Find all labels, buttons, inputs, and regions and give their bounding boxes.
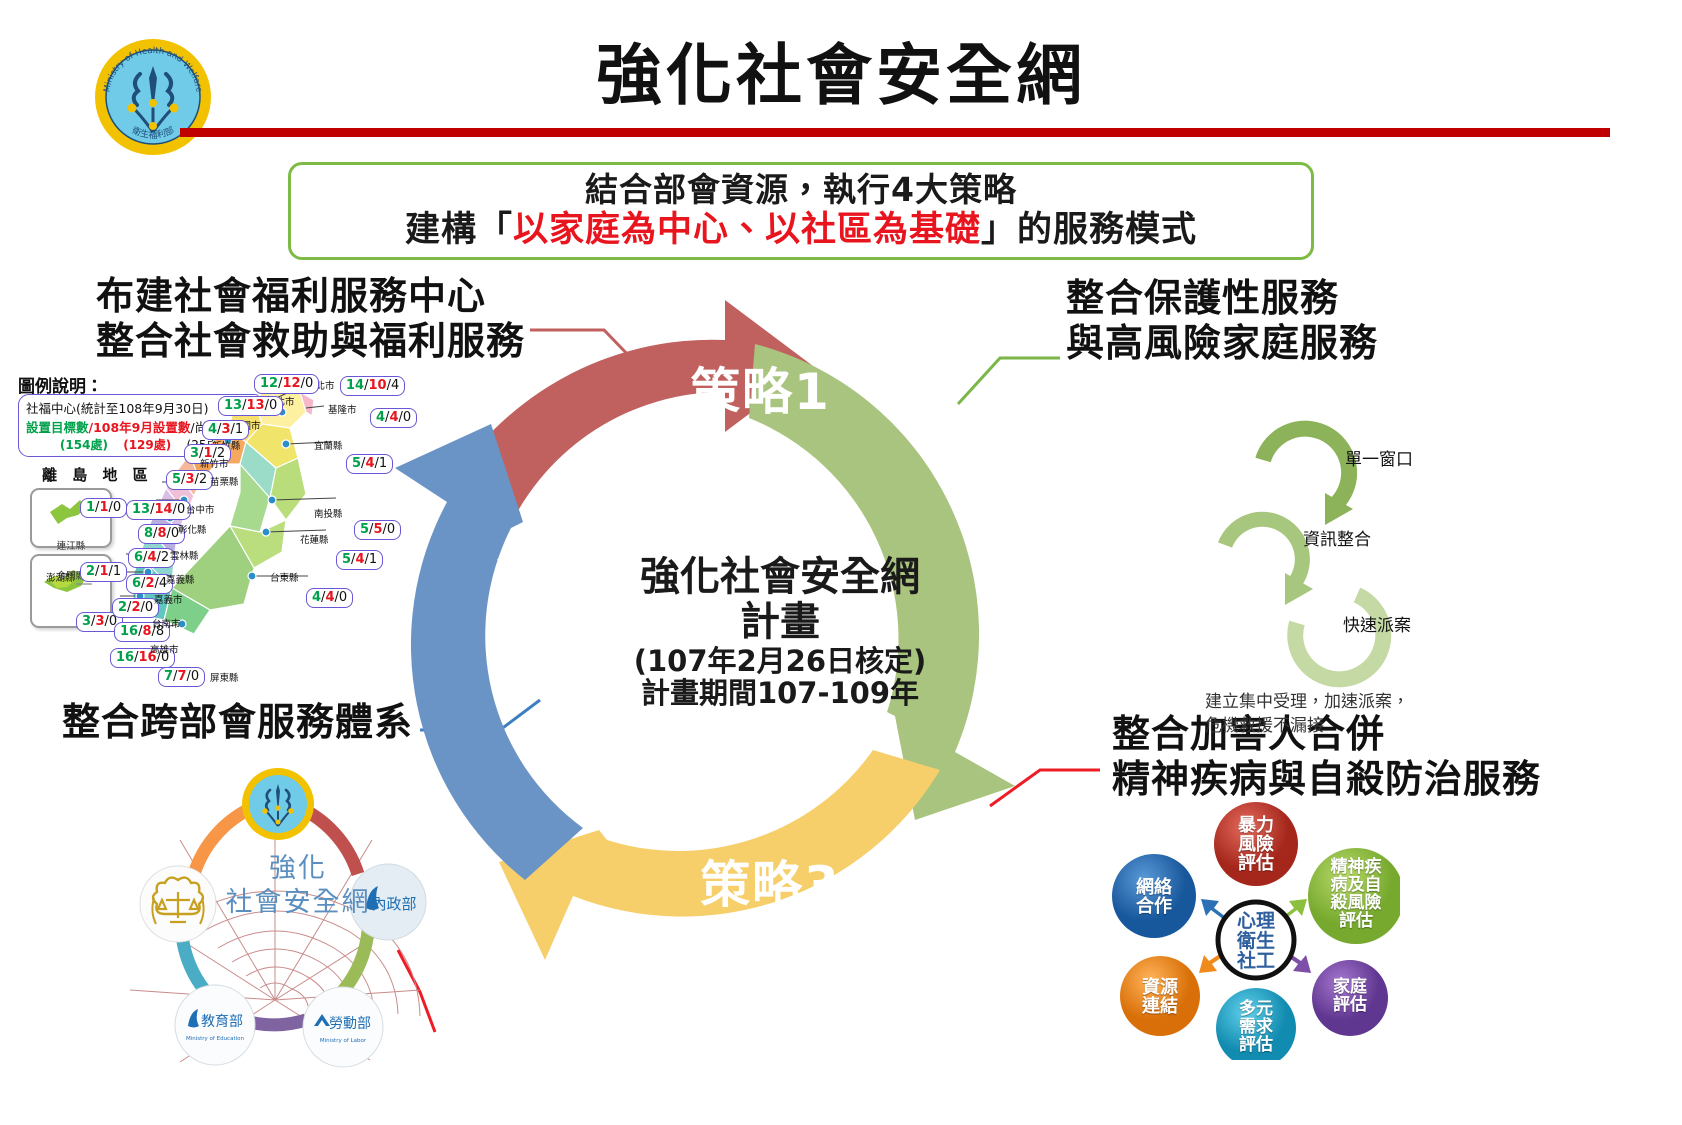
bubble-mental-suicide-risk-text: 精神疾病及自殺風險評估	[1314, 858, 1398, 930]
pill-kinmen: 2/1/1	[80, 562, 127, 582]
county-name-keelung: 基隆市	[328, 402, 357, 416]
svg-text:Ministry of Labor: Ministry of Labor	[320, 1038, 367, 1044]
county-name-pingtung: 屏東縣	[210, 670, 239, 684]
county-name-nantou: 南投縣	[314, 506, 343, 520]
banner-line2-suffix: 」的服務模式	[981, 210, 1197, 250]
bubble-center-line-1: 心理	[1237, 910, 1275, 932]
county-name-changhua: 彰化縣	[178, 522, 207, 536]
title-underline-bar	[180, 128, 1610, 137]
heading-top-right-line-2: 與高風險家庭服務	[1066, 321, 1378, 366]
center-line-2: 計畫	[565, 600, 995, 645]
county-name-penghu: 澎湖縣	[46, 570, 75, 584]
strategy-4-text: 策略	[496, 545, 548, 656]
page-title: 強化社會安全網	[0, 22, 1682, 118]
pill-taichung: 13/14/0	[126, 500, 191, 520]
web-center-line-2: 社會安全網	[198, 886, 398, 920]
strategy-3-label: 策略3	[700, 845, 841, 917]
web-center-line-1: 強化	[198, 852, 398, 886]
county-name-miaoli: 苗栗縣	[210, 474, 239, 488]
pill-taoyuan: 13/13/0	[218, 396, 283, 416]
ring-note-line-2: 危機救援不漏接	[1205, 714, 1409, 738]
pill-yilan: 5/4/1	[346, 454, 393, 474]
ring-label-single-window: 單一窗口	[1345, 445, 1413, 470]
svg-text:教育部: 教育部	[201, 1014, 243, 1030]
pill-lienchiang-pending: 0	[113, 500, 121, 515]
heading-bottom-left: 整合跨部會服務體系	[62, 700, 413, 745]
pill-new-taipei: 14/10/4	[340, 376, 405, 396]
county-name-yunlin: 雲林縣	[170, 548, 199, 562]
ring-note-line-1: 建立集中受理，加速派案，	[1205, 690, 1409, 714]
pill-yunlin: 6/4/2	[128, 548, 175, 568]
bubble-network-coop-text: 網絡合作	[1122, 878, 1186, 916]
bubble-center-text: 心理 衛生 社工	[1218, 912, 1294, 972]
pill-taitung: 4/4/0	[306, 588, 353, 608]
pill-kinmen-pending: 1	[113, 564, 121, 579]
county-name-chiayi-county: 嘉義縣	[166, 572, 195, 586]
county-name-chiayi-city: 嘉義市	[154, 592, 183, 606]
pill-keelung: 4/4/0	[370, 408, 417, 428]
bubble-violence-risk-text: 暴力風險評估	[1224, 816, 1288, 873]
county-name-kaohsiung: 高雄市	[150, 642, 179, 656]
ring-label-fast-dispatch: 快速派案	[1343, 611, 1411, 636]
ring-note: 建立集中受理，加速派案， 危機救援不漏接	[1205, 690, 1409, 738]
center-line-3: (107年2月26日核定)	[565, 645, 995, 677]
ring-single-window	[1263, 429, 1353, 525]
pill-kinmen-target: 2	[86, 564, 95, 579]
banner-line2-prefix: 建構「	[405, 210, 513, 250]
center-line-1: 強化社會安全網	[565, 555, 995, 600]
strategy-4-label: 策略 4	[492, 548, 552, 706]
center-line-4: 計畫期間107-109年	[565, 677, 995, 709]
county-name-yilan: 宜蘭縣	[314, 438, 343, 452]
bubble-multi-need-text: 多元需求評估	[1224, 1000, 1288, 1054]
mental-health-social-worker-diagram: 心理 衛生 社工 暴力風險評估 精神疾病及自殺風險評估 家庭評估 多元需求評估 …	[1110, 800, 1400, 1060]
pill-pingtung: 7/7/0	[158, 667, 205, 687]
banner-line2-highlight: 以家庭為中心、以社區為基礎	[513, 210, 981, 250]
web-node-mohw	[240, 766, 316, 846]
county-name-hsinchu-city: 新竹市	[200, 456, 229, 470]
pill-lienchiang: 1/1/0	[80, 498, 127, 518]
svg-text:勞動部: 勞動部	[329, 1016, 371, 1032]
pill-taipei: 12/12/0	[254, 374, 319, 394]
web-node-moe: 教育部 Ministry of Education	[172, 982, 258, 1072]
pill-miaoli: 5/3/2	[166, 470, 213, 490]
web-center-text: 強化 社會安全網	[198, 852, 398, 920]
bubble-family-assessment-text: 家庭評估	[1316, 978, 1384, 1014]
ring-fast-dispatch	[1295, 595, 1383, 679]
heading-top-right: 整合保護性服務 與高風險家庭服務	[1066, 276, 1378, 366]
strategy-4-number: 4	[504, 650, 541, 708]
single-window-cycle: 單一窗口 資訊整合 快速派案	[1185, 405, 1485, 695]
web-node-mol: 勞動部 Ministry of Labor	[300, 984, 386, 1074]
heading-top-right-line-1: 整合保護性服務	[1066, 276, 1378, 321]
bubble-center-line-3: 社工	[1237, 950, 1275, 972]
pill-nantou: 5/5/0	[354, 520, 401, 540]
ring-info-integration	[1225, 519, 1313, 605]
cycle-center-text: 強化社會安全網 計畫 (107年2月26日核定) 計畫期間107-109年	[565, 555, 995, 710]
pill-lienchiang-target: 1	[86, 500, 95, 515]
strategy-banner: 結合部會資源，執行4大策略 建構「以家庭為中心、以社區為基礎」的服務模式	[288, 162, 1314, 260]
ring-label-info-integration: 資訊整合	[1303, 525, 1371, 550]
bubble-center-line-2: 衛生	[1237, 930, 1275, 952]
heading-bottom-left-line-1: 整合跨部會服務體系	[62, 700, 413, 745]
social-welfare-center-map: 圖例說明： 社福中心(統計至108年9月30日) 設置目標數/108年9月設置數…	[14, 372, 434, 672]
pill-penghu-target: 3	[82, 614, 91, 629]
banner-line-1: 結合部會資源，執行4大策略	[585, 171, 1017, 210]
county-name-taichung: 台中市	[186, 502, 215, 516]
bubble-resource-link-text: 資源連結	[1128, 978, 1192, 1016]
county-name-taitung: 台東縣	[270, 570, 299, 584]
county-name-tainan: 台南市	[152, 616, 181, 630]
svg-text:Ministry of Education: Ministry of Education	[186, 1036, 245, 1042]
county-name-hualien: 花蓮縣	[300, 532, 329, 546]
banner-line-2: 建構「以家庭為中心、以社區為基礎」的服務模式	[405, 210, 1197, 251]
pill-hualien: 5/4/1	[336, 550, 383, 570]
heading-bottom-right-line-2: 精神疾病與自殺防治服務	[1112, 757, 1541, 802]
strategy-1-label: 策略1	[690, 352, 831, 424]
